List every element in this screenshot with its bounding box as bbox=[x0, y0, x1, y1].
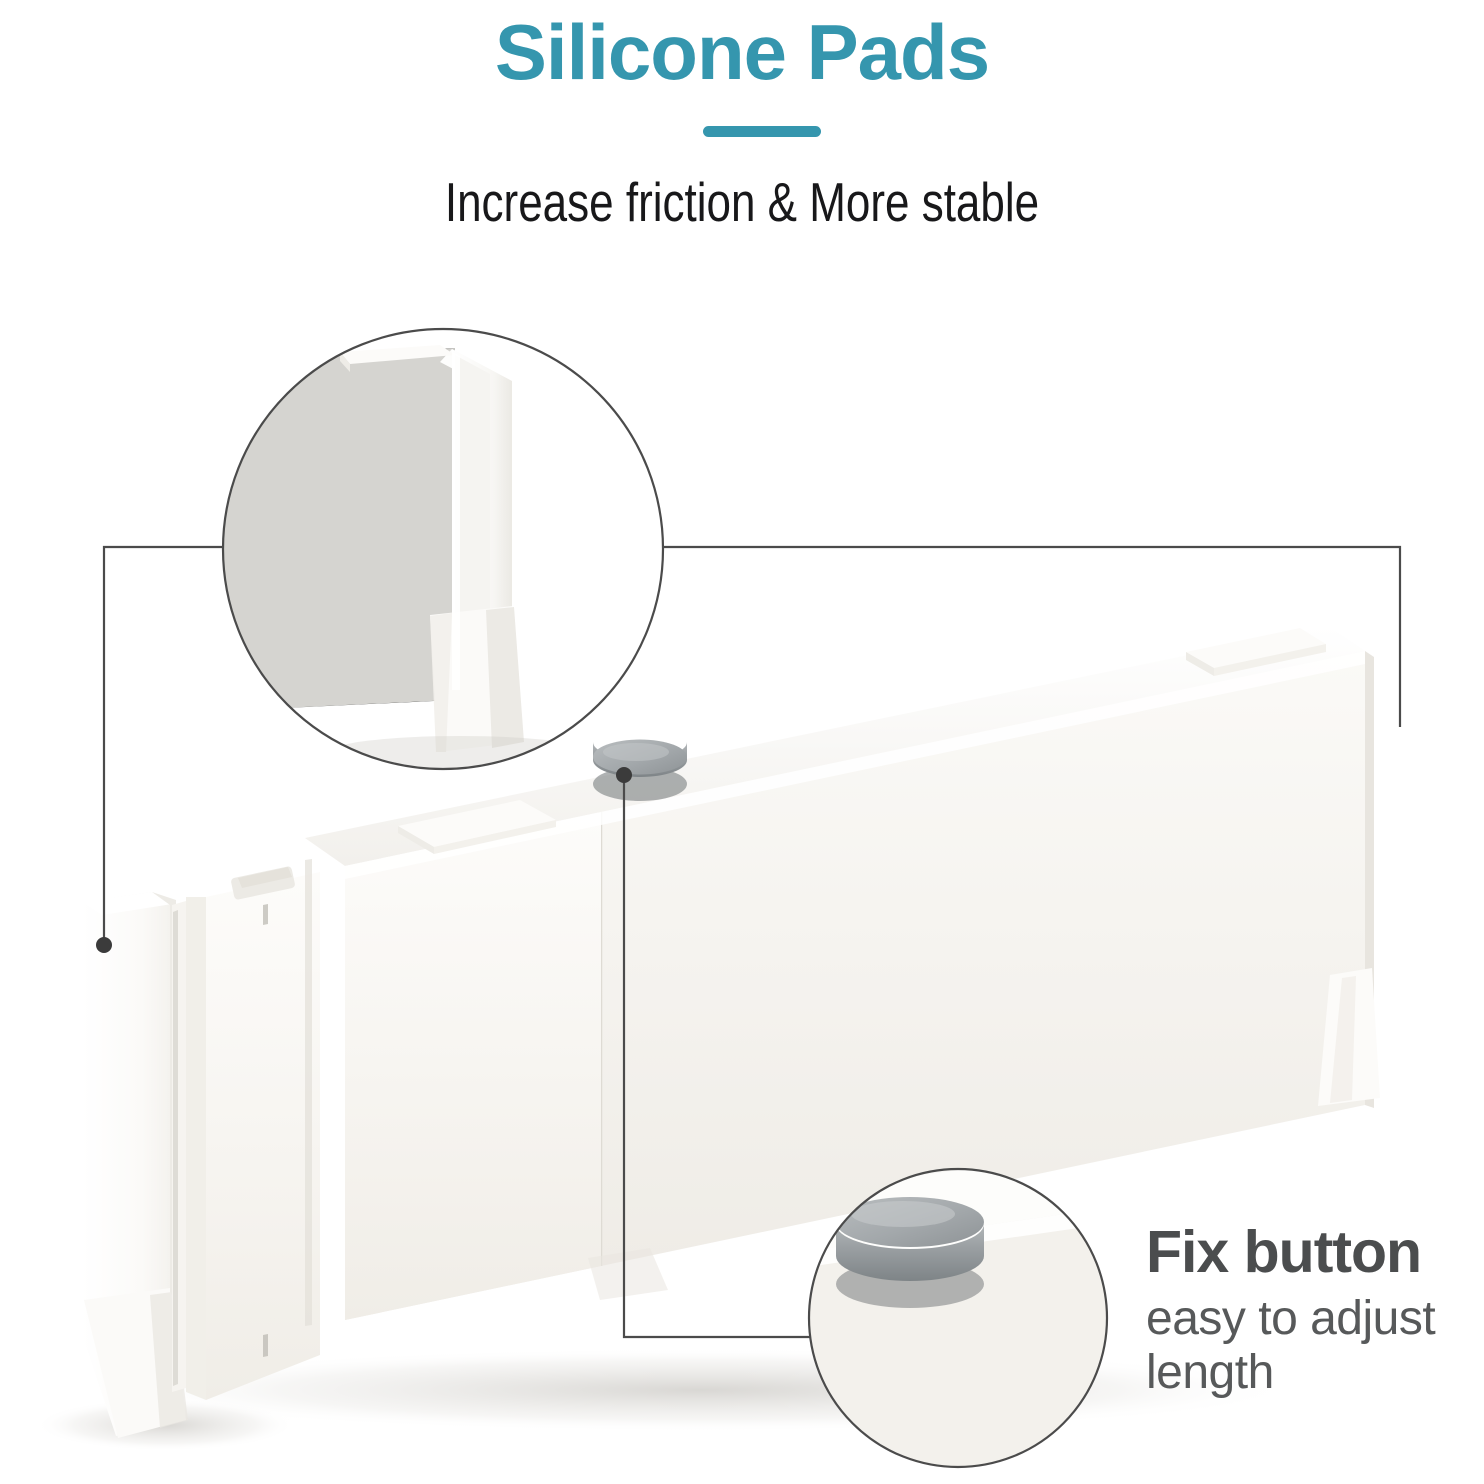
silicone-callout-dot bbox=[96, 937, 112, 953]
panel-front-left-section bbox=[345, 812, 601, 1320]
left-cap-groove-shadow bbox=[173, 910, 178, 1386]
fix-button-subtitle-line-1: easy to adjust bbox=[1146, 1292, 1484, 1346]
slider-sleeve-body bbox=[186, 897, 206, 1400]
slider-sleeve-front bbox=[206, 872, 320, 1400]
fix-button-callout-label: Fix button easy to adjust length bbox=[1146, 1222, 1484, 1399]
zoom-slab-front-grey bbox=[180, 349, 452, 712]
fix-button-subtitle-line-2: length bbox=[1146, 1346, 1484, 1400]
infographic-canvas: Silicone Pads Increase friction & More s… bbox=[0, 0, 1484, 1484]
slider-gap-mark-lower bbox=[263, 1334, 268, 1357]
fix-button-title: Fix button bbox=[1146, 1222, 1484, 1284]
fix-button-callout-dot bbox=[616, 767, 632, 783]
zoom-knob-top-highlight bbox=[851, 1201, 955, 1227]
fix-button-knob[interactable] bbox=[593, 740, 687, 802]
fix-button-top-highlight bbox=[603, 743, 669, 761]
silicone-pad-magnifier-content bbox=[180, 329, 663, 769]
slider-gap-mark-upper bbox=[263, 904, 268, 925]
zoom-cap-highlight bbox=[452, 352, 460, 690]
panel-left-edge-shadow bbox=[305, 859, 312, 1326]
fix-button-subtitle: easy to adjust length bbox=[1146, 1292, 1484, 1400]
